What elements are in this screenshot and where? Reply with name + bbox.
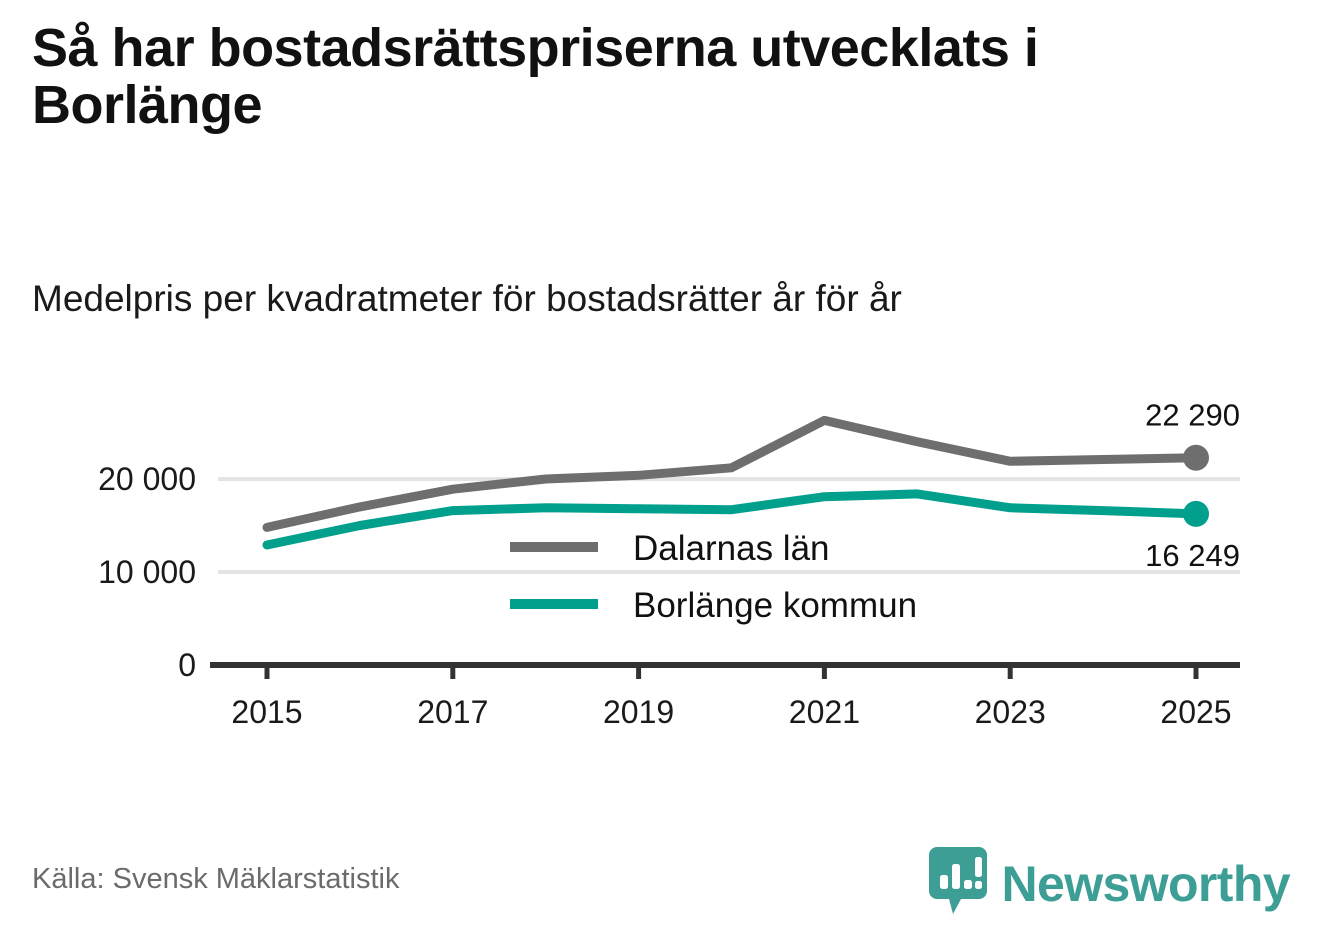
y-axis-tick-label: 0 <box>178 647 196 683</box>
y-axis-tick-labels: 010 00020 000 <box>98 461 196 683</box>
series-value-label-2: 16 249 <box>1145 538 1240 573</box>
x-axis-tick-labels: 201520172019202120232025 <box>231 694 1231 730</box>
series-lines-group <box>267 420 1196 545</box>
x-axis-tick-label: 2021 <box>789 694 860 730</box>
x-axis-tick-label: 2015 <box>231 694 302 730</box>
y-axis-tick-label: 10 000 <box>98 554 196 590</box>
line-chart-svg: 010 00020 000 201520172019202120232025 2… <box>0 380 1322 760</box>
legend-label-2: Borlänge kommun <box>633 586 917 625</box>
brand-name-label: Newsworthy <box>1001 859 1290 909</box>
series-end-marker-2 <box>1183 501 1209 527</box>
x-axis-tick-label: 2025 <box>1160 694 1231 730</box>
chart-legend: Dalarnas länBorlänge kommun <box>510 529 917 625</box>
x-axis-tick-label: 2019 <box>603 694 674 730</box>
legend-label-1: Dalarnas län <box>633 529 830 568</box>
chart-footer: Källa: Svensk Mäklarstatistik Newsworthy <box>0 845 1322 939</box>
chart-subtitle: Medelpris per kvadratmeter för bostadsrä… <box>32 278 902 321</box>
page-title: Så har bostadsrättspriserna utvecklats i… <box>32 20 1212 133</box>
newsworthy-logo[interactable]: Newsworthy <box>929 847 1290 920</box>
x-axis-tick-label: 2023 <box>975 694 1046 730</box>
chart-page: Så har bostadsrättspriserna utvecklats i… <box>0 0 1322 939</box>
value-annotations-group: 22 29016 249 <box>1145 398 1240 573</box>
series-end-marker-1 <box>1183 445 1209 471</box>
source-credit: Källa: Svensk Mäklarstatistik <box>32 863 399 896</box>
series-end-markers-group <box>1183 445 1209 527</box>
speech-bubble-bar-chart-icon <box>929 847 987 920</box>
chart-plot-area: 010 00020 000 201520172019202120232025 2… <box>0 380 1322 760</box>
x-axis-tick-label: 2017 <box>417 694 488 730</box>
series-value-label-1: 22 290 <box>1145 398 1240 433</box>
x-axis-group <box>210 665 1240 679</box>
chart-header: Så har bostadsrättspriserna utvecklats i… <box>32 20 1292 133</box>
y-axis-tick-label: 20 000 <box>98 461 196 497</box>
